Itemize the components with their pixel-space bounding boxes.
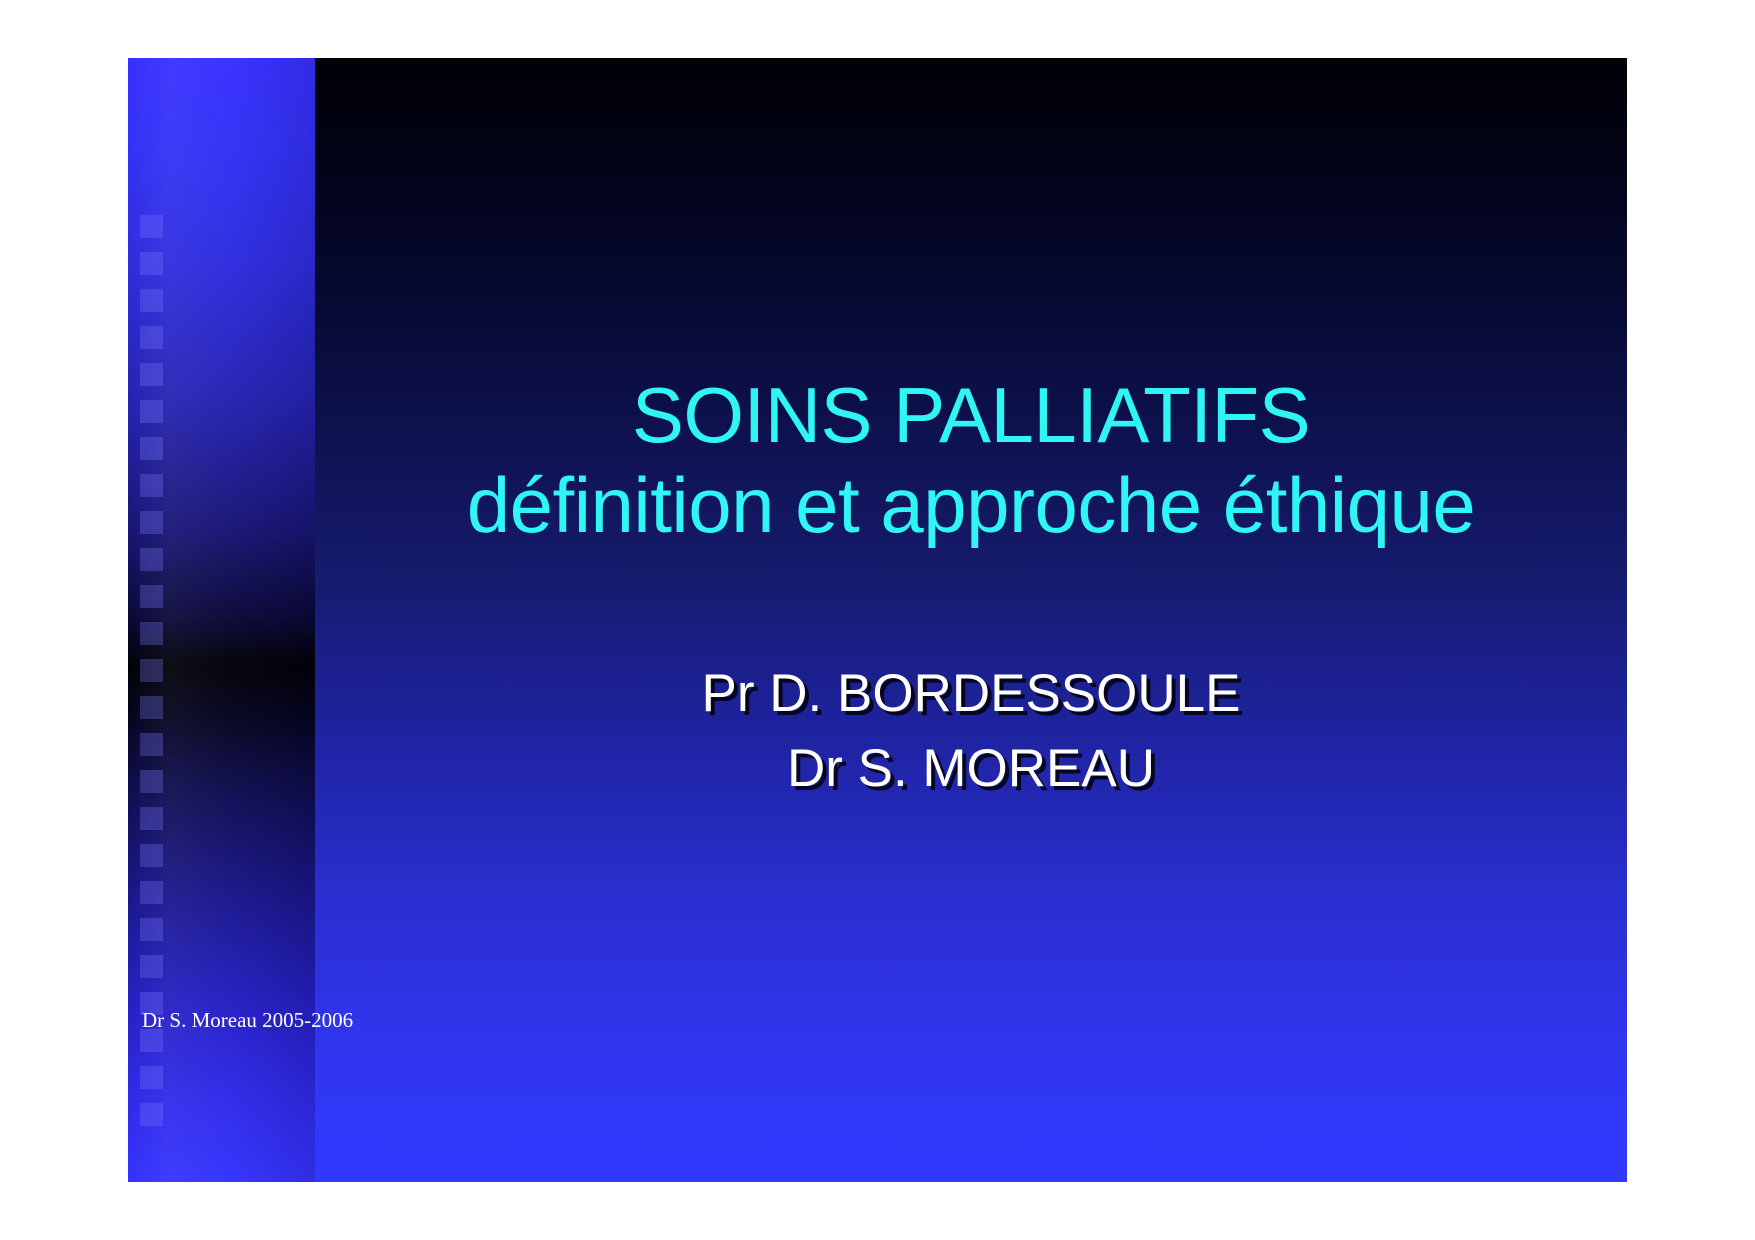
sidebar-decorative-square — [140, 955, 163, 978]
title-line-2: définition et approche éthique — [315, 466, 1627, 546]
sidebar-decorative-square — [140, 511, 163, 534]
presentation-slide: SOINS PALLIATIFS définition et approche … — [128, 58, 1627, 1182]
sidebar-decorative-square — [140, 844, 163, 867]
sidebar-decorative-square — [140, 1066, 163, 1089]
sidebar-decorative-square — [140, 215, 163, 238]
sidebar-decorative-square — [140, 326, 163, 349]
sidebar-decorative-square — [140, 918, 163, 941]
slide-title: SOINS PALLIATIFS définition et approche … — [315, 376, 1627, 545]
sidebar-decorative-square — [140, 289, 163, 312]
sidebar-decorative-square — [140, 585, 163, 608]
sidebar-decorative-square — [140, 437, 163, 460]
sidebar-decorative-square — [140, 474, 163, 497]
author-line-1: Pr D. BORDESSOULE — [315, 656, 1627, 731]
sidebar-decorative-square — [140, 400, 163, 423]
sidebar-decorative-square — [140, 807, 163, 830]
slide-footer: Dr S. Moreau 2005-2006 — [142, 1008, 353, 1033]
page-canvas: SOINS PALLIATIFS définition et approche … — [0, 0, 1755, 1240]
sidebar-decorative-square — [140, 622, 163, 645]
sidebar-decorative-square — [140, 548, 163, 571]
author-line-2: Dr S. MOREAU — [315, 731, 1627, 806]
slide-authors: Pr D. BORDESSOULE Dr S. MOREAU — [315, 656, 1627, 807]
sidebar-decorative-square — [140, 659, 163, 682]
sidebar-decorative-square — [140, 881, 163, 904]
title-line-1: SOINS PALLIATIFS — [315, 376, 1627, 456]
sidebar-decorative-square — [140, 1103, 163, 1126]
sidebar-decorative-square — [140, 696, 163, 719]
sidebar-decorative-square — [140, 770, 163, 793]
sidebar-decorative-square — [140, 733, 163, 756]
sidebar-decorative-square — [140, 252, 163, 275]
sidebar-decorative-square — [140, 363, 163, 386]
